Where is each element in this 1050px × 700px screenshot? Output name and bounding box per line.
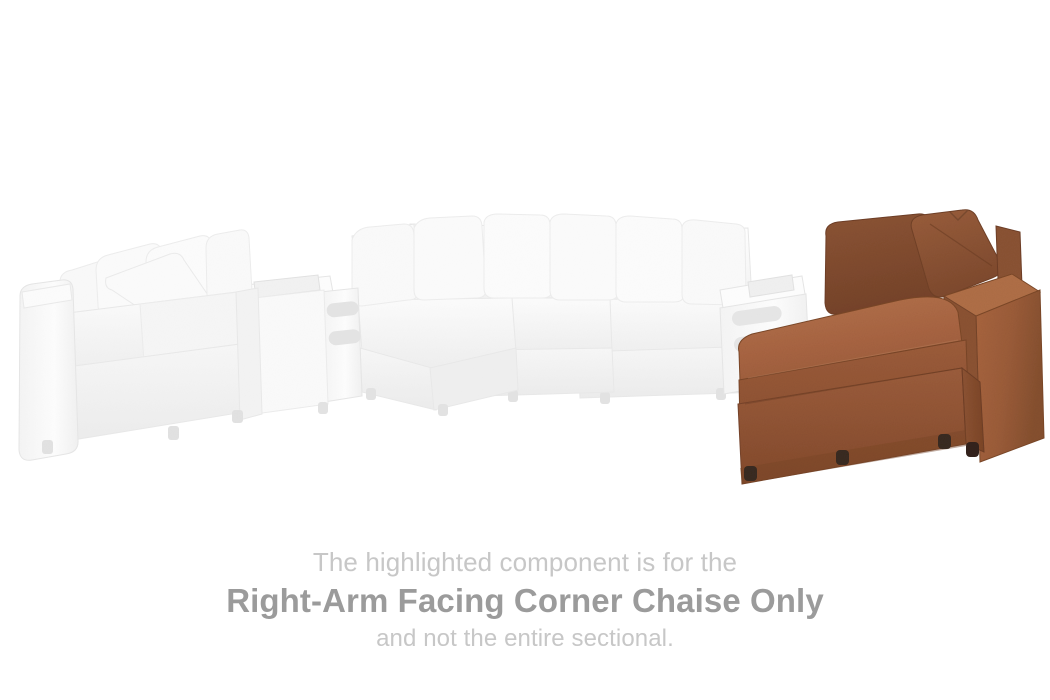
caption-line-disclaimer: and not the entire sectional.	[0, 623, 1050, 655]
back-cushion-row	[352, 214, 746, 306]
left-arm-facing-loveseat	[19, 230, 262, 460]
right-arm-facing-corner-chaise-highlighted	[738, 210, 1044, 484]
caption-line-intro: The highlighted component is for the	[0, 545, 1050, 579]
caption-block: The highlighted component is for the Rig…	[0, 545, 1050, 655]
chaise-right-arm-outer	[976, 290, 1044, 462]
product-highlight-page: The highlighted component is for the Rig…	[0, 0, 1050, 700]
ghosted-sectional-group	[19, 214, 810, 460]
sectional-sofa-illustration	[0, 0, 1050, 520]
sofa-svg	[0, 0, 1050, 520]
caption-line-component-name: Right-Arm Facing Corner Chaise Only	[0, 579, 1050, 623]
